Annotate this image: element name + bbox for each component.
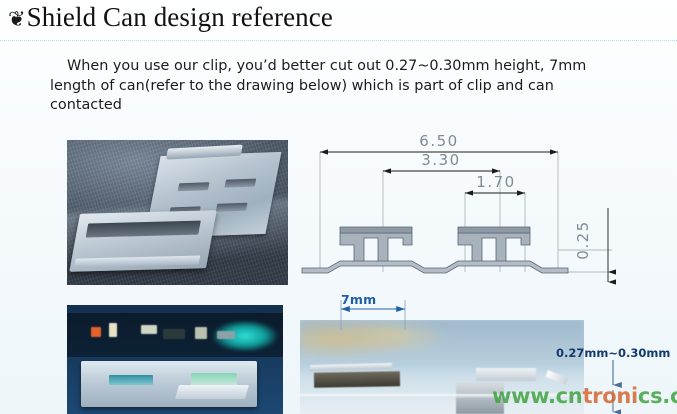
can-pad xyxy=(109,375,153,385)
can-top-right xyxy=(458,227,530,233)
can-top-left xyxy=(340,227,412,233)
can-profile-right xyxy=(458,233,530,262)
base-rail xyxy=(302,261,568,273)
plate-slot xyxy=(178,182,210,191)
length-annotation-label: 7mm xyxy=(341,292,376,307)
macro-clip-highlight xyxy=(310,363,392,371)
body-line-1: When you use our clip, you’d better cut … xyxy=(50,57,650,77)
clip-groove xyxy=(86,221,201,238)
clip-body xyxy=(69,210,217,272)
macro-metal-sliver xyxy=(545,370,568,385)
watermark-part-2: troni xyxy=(582,384,637,408)
shield-can-installed xyxy=(81,361,257,407)
title-divider xyxy=(0,40,677,41)
pcb-component xyxy=(141,325,157,334)
macro-background-blur xyxy=(300,320,584,366)
site-watermark: www.cntronics.com xyxy=(492,384,677,408)
page-title: ❦ Shield Can design reference xyxy=(8,2,333,33)
macro-clip-bar xyxy=(314,371,400,387)
dim-overall-label: 6.50 xyxy=(419,132,458,150)
body-line-2: length of can(refer to the drawing below… xyxy=(50,77,650,97)
shield-can-clip-photo xyxy=(67,140,288,285)
dim-inner-label: 1.70 xyxy=(476,173,515,191)
diamond-cluster-bullet-icon: ❦ xyxy=(8,9,26,30)
pcb-component xyxy=(217,331,235,339)
watermark-part-3: cs.com xyxy=(638,384,677,408)
shield-can-cross-section-drawing: 6.50 3.30 1.70 0.25 xyxy=(300,130,640,285)
page-title-text: Shield Can design reference xyxy=(27,2,333,33)
pcb-component xyxy=(91,327,101,337)
pcb-component xyxy=(163,329,185,339)
macro-can-edge xyxy=(476,368,536,381)
body-line-3: contacted xyxy=(50,96,650,116)
height-annotation-label: 0.27mm~0.30mm xyxy=(556,346,670,360)
dim-height-label: 0.25 xyxy=(574,220,592,259)
can-pad xyxy=(175,385,249,399)
can-profile-left xyxy=(340,233,412,262)
pcb-component xyxy=(195,327,207,339)
pcb-with-shield-can-photo xyxy=(67,305,283,414)
dim-middle-label: 3.30 xyxy=(421,151,460,169)
watermark-part-1: www.cn xyxy=(492,384,582,408)
clip-lip xyxy=(74,255,200,267)
plate-slot xyxy=(224,179,256,188)
body-paragraph: When you use our clip, you’d better cut … xyxy=(50,57,650,116)
pcb-component xyxy=(109,323,117,337)
plate-slot xyxy=(216,203,248,212)
slide-canvas: ❦ Shield Can design reference When you u… xyxy=(0,0,677,414)
